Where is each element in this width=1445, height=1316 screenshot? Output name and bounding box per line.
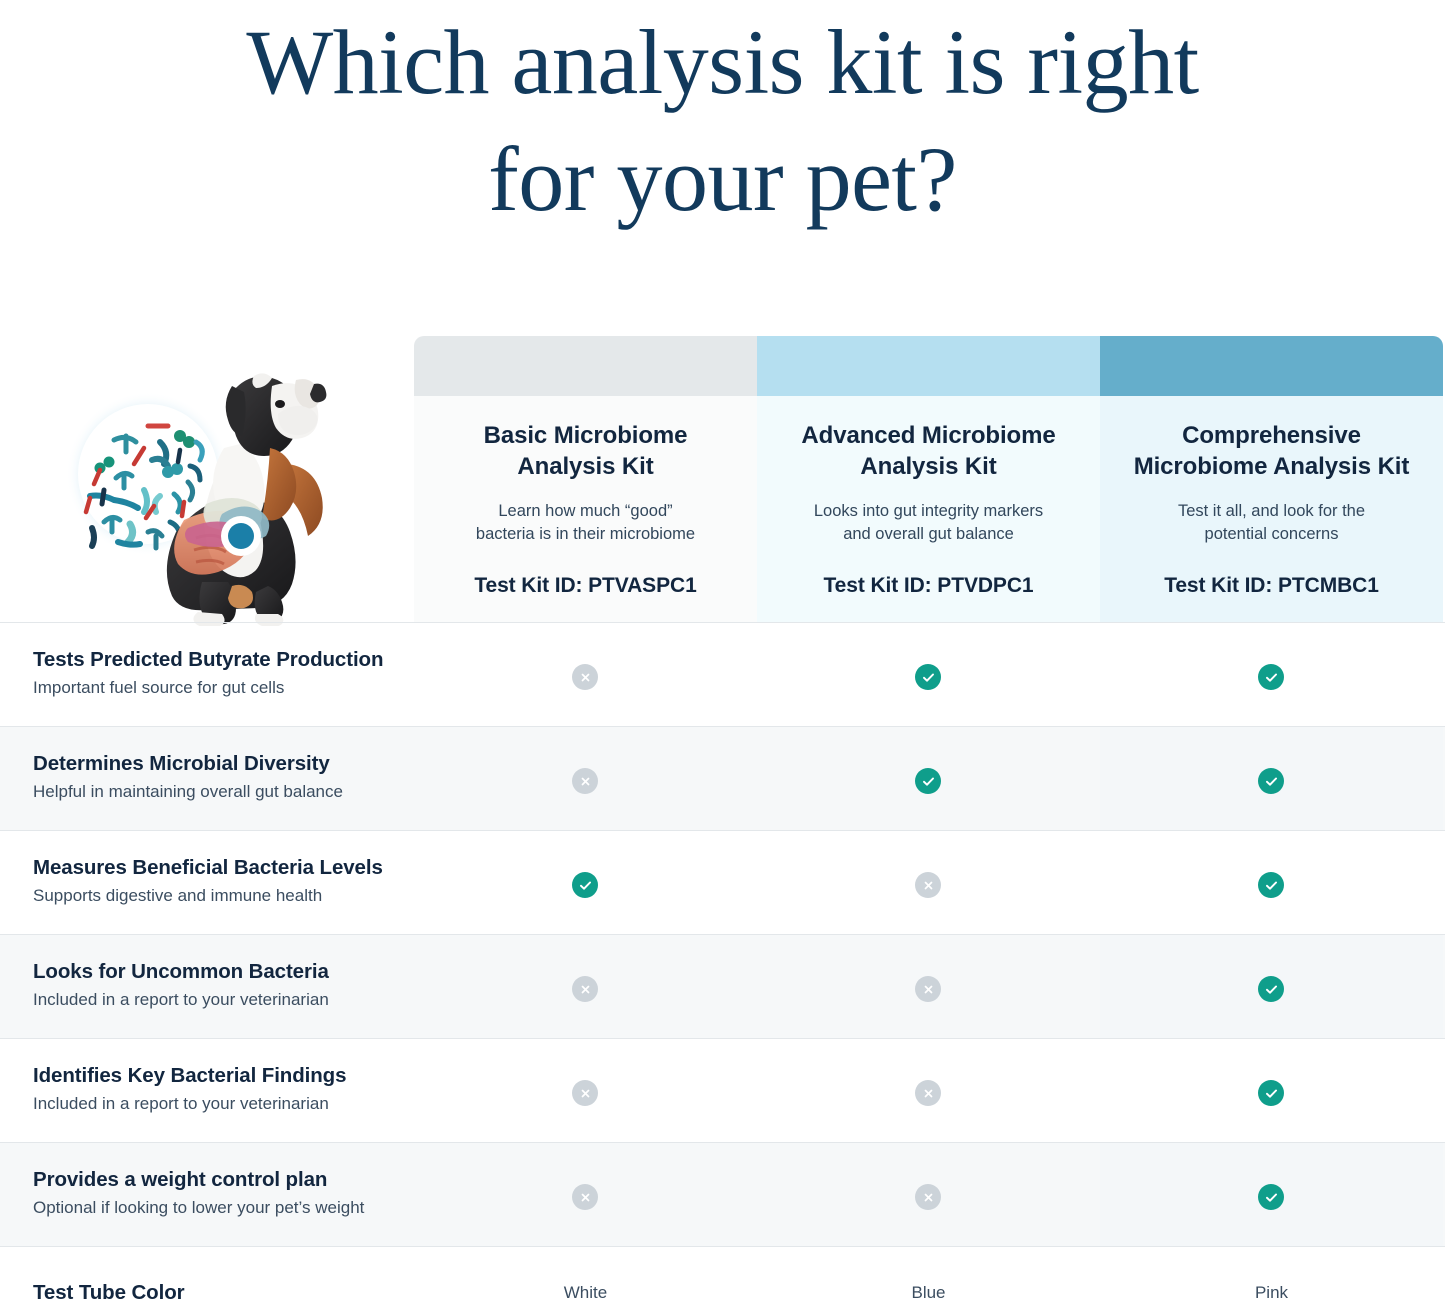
row-title: Tests Predicted Butyrate Production (33, 647, 413, 673)
cross-glyph (579, 775, 592, 788)
row-subtitle: Supports digestive and immune health (33, 885, 413, 908)
column-band-advanced (757, 336, 1100, 396)
table-row-test-tube-color: Test Tube ColorWhiteBluePink (0, 1246, 1445, 1309)
feature-rows: Tests Predicted Butyrate ProductionImpor… (0, 622, 1445, 1309)
row-title: Measures Beneficial Bacteria Levels (33, 855, 413, 881)
x-circle-icon (915, 1080, 941, 1106)
cross-glyph (579, 1191, 592, 1204)
check-glyph (1264, 982, 1279, 997)
row-subtitle: Included in a report to your veterinaria… (33, 989, 413, 1012)
test-tube-color-value: Blue (757, 1283, 1100, 1303)
check-circle-icon (1258, 1184, 1284, 1210)
page-title-line-1: Which analysis kit is right (0, 4, 1445, 121)
row-title: Identifies Key Bacterial Findings (33, 1063, 413, 1089)
row-label: Test Tube Color (33, 1280, 413, 1306)
row-subtitle: Optional if looking to lower your pet’s … (33, 1197, 413, 1220)
check-circle-icon (1258, 768, 1284, 794)
kit-id-comprehensive: Test Kit ID: PTCMBC1 (1118, 574, 1425, 598)
row-title: Looks for Uncommon Bacteria (33, 959, 413, 985)
check-circle-icon (572, 872, 598, 898)
row-title: Determines Microbial Diversity (33, 751, 413, 777)
x-circle-icon (572, 976, 598, 1002)
row-subtitle: Helpful in maintaining overall gut balan… (33, 781, 413, 804)
x-circle-icon (572, 1184, 598, 1210)
table-row: Determines Microbial DiversityHelpful in… (0, 726, 1445, 830)
column-band-basic (414, 336, 757, 396)
row-label: Measures Beneficial Bacteria LevelsSuppo… (33, 855, 413, 908)
kit-name-basic: Basic Microbiome Analysis Kit (432, 420, 739, 482)
column-header-comprehensive[interactable]: Comprehensive Microbiome Analysis Kit Te… (1100, 396, 1443, 622)
column-header-advanced[interactable]: Advanced Microbiome Analysis Kit Looks i… (757, 396, 1100, 622)
test-tube-color-value: White (414, 1283, 757, 1303)
comparison-table: Basic Microbiome Analysis Kit Learn how … (0, 336, 1445, 622)
check-glyph (921, 774, 936, 789)
table-row: Provides a weight control planOptional i… (0, 1142, 1445, 1246)
table-row: Measures Beneficial Bacteria LevelsSuppo… (0, 830, 1445, 934)
kit-id-basic: Test Kit ID: PTVASPC1 (432, 574, 739, 598)
cross-glyph (579, 671, 592, 684)
test-tube-color-value: Pink (1100, 1283, 1443, 1303)
column-band-comprehensive (1100, 336, 1443, 396)
check-circle-icon (1258, 976, 1284, 1002)
row-title: Provides a weight control plan (33, 1167, 413, 1193)
x-circle-icon (915, 1184, 941, 1210)
x-circle-icon (572, 664, 598, 690)
check-glyph (1264, 670, 1279, 685)
cross-glyph (579, 1087, 592, 1100)
table-row: Identifies Key Bacterial FindingsInclude… (0, 1038, 1445, 1142)
page-title-line-2: for your pet? (0, 121, 1445, 238)
check-glyph (1264, 1086, 1279, 1101)
cross-glyph (922, 1191, 935, 1204)
kit-description-comprehensive: Test it all, and look for the potential … (1118, 500, 1425, 546)
cross-glyph (922, 983, 935, 996)
kit-description-advanced: Looks into gut integrity markers and ove… (775, 500, 1082, 546)
check-glyph (578, 878, 593, 893)
row-subtitle: Important fuel source for gut cells (33, 677, 413, 700)
check-circle-icon (1258, 872, 1284, 898)
x-circle-icon (572, 1080, 598, 1106)
x-circle-icon (915, 872, 941, 898)
check-glyph (1264, 878, 1279, 893)
cross-glyph (579, 983, 592, 996)
row-label: Determines Microbial DiversityHelpful in… (33, 751, 413, 804)
check-circle-icon (915, 768, 941, 794)
row-subtitle: Included in a report to your veterinaria… (33, 1093, 413, 1116)
check-glyph (921, 670, 936, 685)
check-glyph (1264, 1190, 1279, 1205)
x-circle-icon (572, 768, 598, 794)
row-title: Test Tube Color (33, 1280, 413, 1306)
kit-name-comprehensive: Comprehensive Microbiome Analysis Kit (1118, 420, 1425, 482)
check-circle-icon (915, 664, 941, 690)
comparison-header-row: Basic Microbiome Analysis Kit Learn how … (0, 336, 1445, 622)
cross-glyph (922, 879, 935, 892)
kit-description-basic: Learn how much “good” bacteria is in the… (432, 500, 739, 546)
cross-glyph (922, 1087, 935, 1100)
table-row: Looks for Uncommon BacteriaIncluded in a… (0, 934, 1445, 1038)
check-glyph (1264, 774, 1279, 789)
table-row: Tests Predicted Butyrate ProductionImpor… (0, 622, 1445, 726)
kit-id-advanced: Test Kit ID: PTVDPC1 (775, 574, 1082, 598)
row-label: Provides a weight control planOptional i… (33, 1167, 413, 1220)
column-header-basic[interactable]: Basic Microbiome Analysis Kit Learn how … (414, 396, 757, 622)
x-circle-icon (915, 976, 941, 1002)
page-title: Which analysis kit is right for your pet… (0, 0, 1445, 238)
row-label: Tests Predicted Butyrate ProductionImpor… (33, 647, 413, 700)
row-label: Looks for Uncommon BacteriaIncluded in a… (33, 959, 413, 1012)
row-label: Identifies Key Bacterial FindingsInclude… (33, 1063, 413, 1116)
kit-name-advanced: Advanced Microbiome Analysis Kit (775, 420, 1082, 482)
check-circle-icon (1258, 664, 1284, 690)
check-circle-icon (1258, 1080, 1284, 1106)
